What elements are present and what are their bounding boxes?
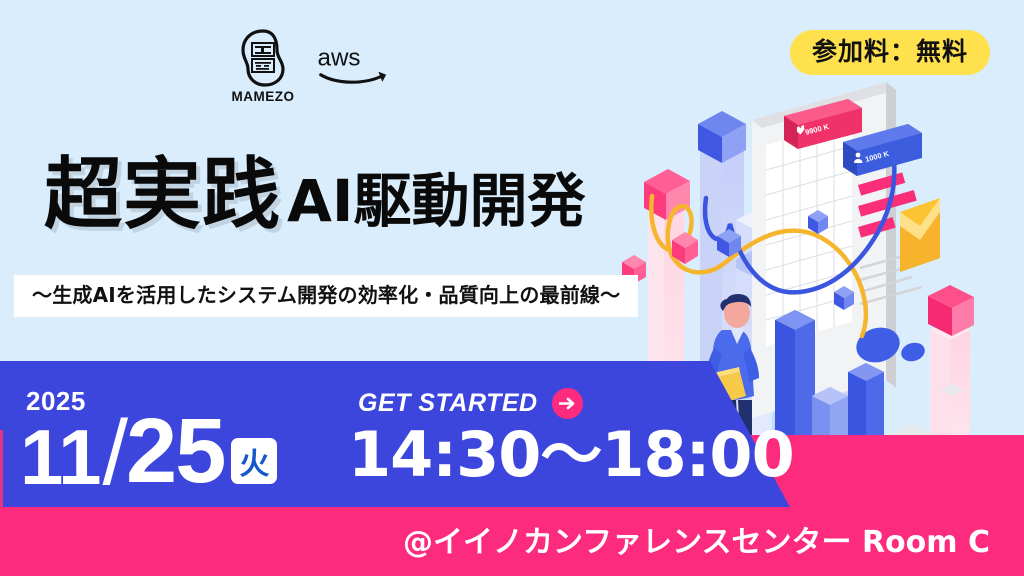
- day-of-week-badge: 火: [231, 438, 277, 484]
- fee-badge-label: 参加料：無料: [812, 39, 968, 64]
- date-separator: /: [102, 418, 128, 490]
- title-emphasis-text: 超実践: [44, 150, 281, 240]
- mamezo-logo: MAMEZO: [228, 28, 298, 104]
- subtitle-banner: 〜生成AIを活用したシステム開発の効率化・品質向上の最前線〜: [14, 275, 638, 317]
- fee-badge: 参加料：無料: [790, 30, 990, 75]
- event-year: 2025: [26, 388, 86, 414]
- mamezo-wordmark: MAMEZO: [232, 89, 295, 104]
- venue-label: @イイノカンファレンスセンター Room C: [403, 528, 990, 558]
- event-time: 14:30〜18:00: [348, 424, 794, 486]
- page-title: 超実践 AI駆動開発: [44, 160, 585, 232]
- event-month-day: 11 / 25 火: [20, 412, 277, 490]
- title-emphasis: 超実践: [44, 160, 281, 232]
- event-poster: 9900 K 1000 K: [0, 0, 1024, 576]
- event-month: 11: [20, 424, 100, 490]
- left-edge-accent: [0, 430, 3, 508]
- get-started-label: GET STARTED: [358, 391, 538, 416]
- event-day: 25: [126, 412, 224, 490]
- svg-text:aws: aws: [318, 44, 361, 71]
- title-rest: AI駆動開発: [287, 172, 585, 232]
- arrow-right-circle-icon[interactable]: [552, 388, 583, 419]
- subtitle-text: 〜生成AIを活用したシステム開発の効率化・品質向上の最前線〜: [32, 283, 620, 307]
- mamezo-bean-logo-icon: [237, 28, 289, 88]
- aws-logo-icon: aws: [316, 42, 394, 84]
- get-started-cta[interactable]: GET STARTED: [358, 388, 583, 419]
- logo-group: MAMEZO aws: [228, 28, 408, 120]
